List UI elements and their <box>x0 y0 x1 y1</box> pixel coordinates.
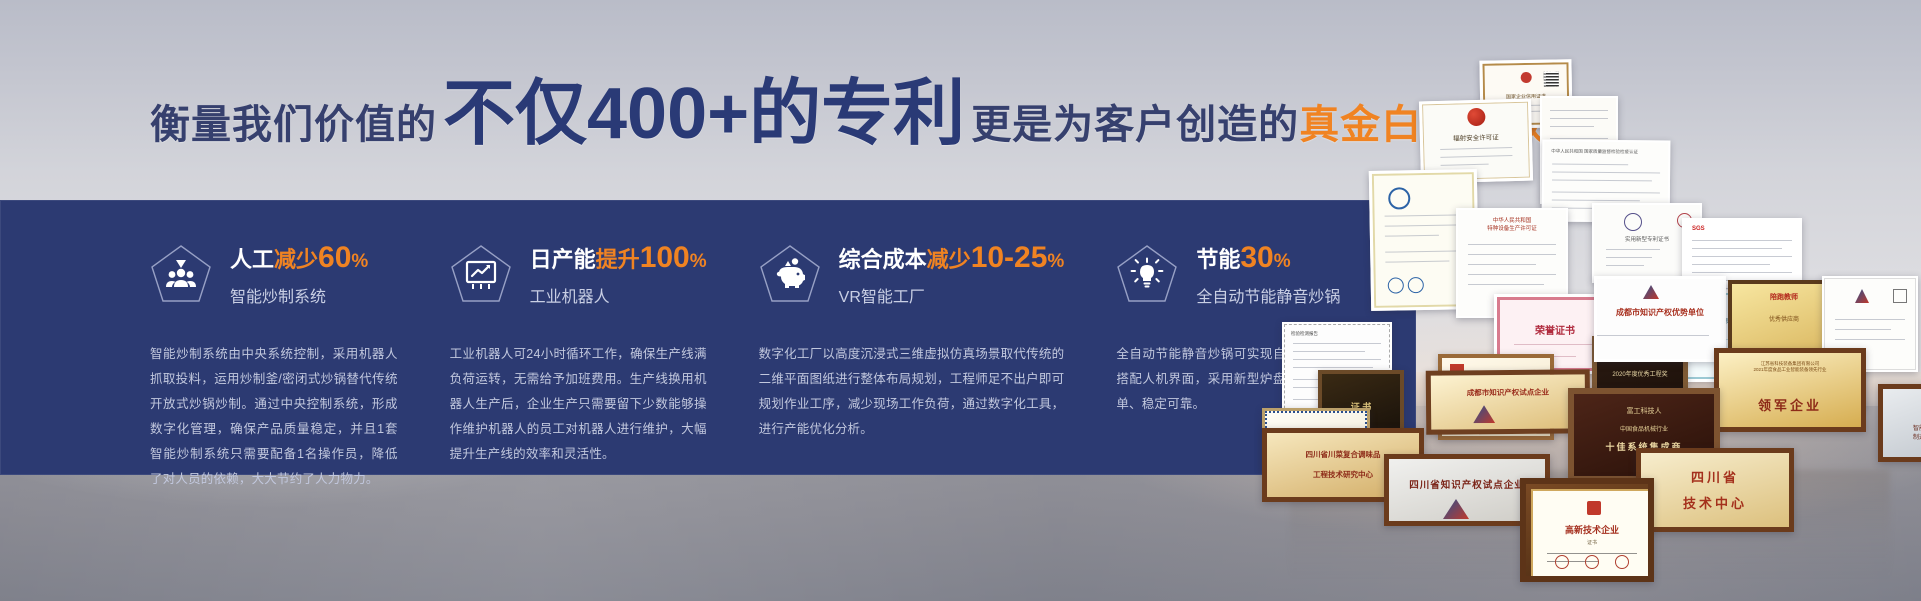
plaque-item: 高新技术企业 证书 <box>1520 478 1654 582</box>
certificate-wall: 国家企业信用证书 辐射安全许可证 <box>1262 48 1921 528</box>
plaque-item: 智能食品行业制造十强企业 <box>1878 384 1921 462</box>
chart-board-glyph <box>464 257 498 291</box>
feature-description-2: 工业机器人可24小时循环工作，确保生产线满负荷运转，无需给予加班费用。生产线换用… <box>450 342 707 467</box>
feature-title-plain-3: 综合成本 <box>839 247 927 272</box>
feature-subtitle-1: 智能炒制系统 <box>230 283 368 307</box>
feature-title-number-1: 60 <box>318 241 351 274</box>
feature-description-3: 数字化工厂以高度沉浸式三维虚拟仿真场景取代传统的二维平面图纸进行整体布局规划，工… <box>759 342 1065 442</box>
plaque-item: 江苏省科技装备集团有限公司2021年度食品工业智能装备领先行业 领军企业 <box>1714 348 1866 432</box>
plaque-item: 成都市知识产权试点企业 <box>1426 369 1591 434</box>
feature-titles-1: 人工减少60% 智能炒制系统 <box>230 241 368 307</box>
lightbulb-icon <box>1116 244 1178 304</box>
feature-title-plain-2: 日产能 <box>530 247 596 272</box>
feature-title-plain-1: 人工 <box>230 247 274 272</box>
plaque-item: 四川省 技术中心 <box>1636 448 1794 532</box>
features-panel: 人工减少60% 智能炒制系统 智能炒制系统由中央系统控制，采用机器人抓取投料，运… <box>0 200 1416 475</box>
feature-title-unit-1: % <box>351 251 368 272</box>
headline-emphasis: 不仅400+的专利 <box>437 80 971 148</box>
feature-title-1: 人工减少60% <box>230 241 368 276</box>
feature-header-2: 日产能提升100% 工业机器人 <box>450 200 707 328</box>
feature-title-plain-4: 节能 <box>1196 247 1240 272</box>
feature-title-unit-3: % <box>1047 251 1064 272</box>
feature-title-3: 综合成本减少10-25% <box>839 241 1065 276</box>
feature-item-3: 综合成本减少10-25% VR智能工厂 数字化工厂以高度沉浸式三维虚拟仿真场景取… <box>759 200 1117 475</box>
plaque-item: 成都市知识产权优势单位 <box>1594 276 1726 362</box>
feature-title-number-2: 100 <box>640 241 690 274</box>
feature-title-accent-1: 减少 <box>274 247 318 272</box>
feature-title-2: 日产能提升100% <box>530 241 707 276</box>
banner-stage: 衡量我们价值的 不仅400+的专利 更是为客户创造的 真金白银的效益 <box>0 0 1921 601</box>
feature-header-1: 人工减少60% 智能炒制系统 <box>150 200 398 328</box>
feature-title-unit-2: % <box>690 251 707 272</box>
feature-subtitle-3: VR智能工厂 <box>839 283 1065 307</box>
lightbulb-glyph <box>1130 257 1164 291</box>
feature-description-1: 智能炒制系统由中央系统控制，采用机器人抓取投料，运用炒制釜/密闭式炒锅替代传统开… <box>150 342 398 492</box>
feature-item-2: 日产能提升100% 工业机器人 工业机器人可24小时循环工作，确保生产线满负荷运… <box>450 200 759 475</box>
people-group-icon <box>150 244 212 304</box>
piggy-bank-icon <box>759 244 821 304</box>
feature-titles-2: 日产能提升100% 工业机器人 <box>530 241 707 307</box>
feature-titles-3: 综合成本减少10-25% VR智能工厂 <box>839 241 1065 307</box>
feature-title-accent-3: 减少 <box>927 247 971 272</box>
people-group-glyph <box>164 257 198 291</box>
feature-subtitle-2: 工业机器人 <box>530 283 707 307</box>
chart-board-icon <box>450 244 512 304</box>
piggy-bank-glyph <box>773 257 807 291</box>
features-list: 人工减少60% 智能炒制系统 智能炒制系统由中央系统控制，采用机器人抓取投料，运… <box>0 200 1416 475</box>
feature-title-accent-2: 提升 <box>596 247 640 272</box>
feature-title-number-3: 10-25 <box>971 241 1048 274</box>
headline-mid: 更是为客户创造的 <box>971 92 1299 150</box>
feature-item-1: 人工减少60% 智能炒制系统 智能炒制系统由中央系统控制，采用机器人抓取投料，运… <box>150 200 450 475</box>
feature-header-3: 综合成本减少10-25% VR智能工厂 <box>759 200 1065 328</box>
headline-lead: 衡量我们价值的 <box>150 92 437 150</box>
